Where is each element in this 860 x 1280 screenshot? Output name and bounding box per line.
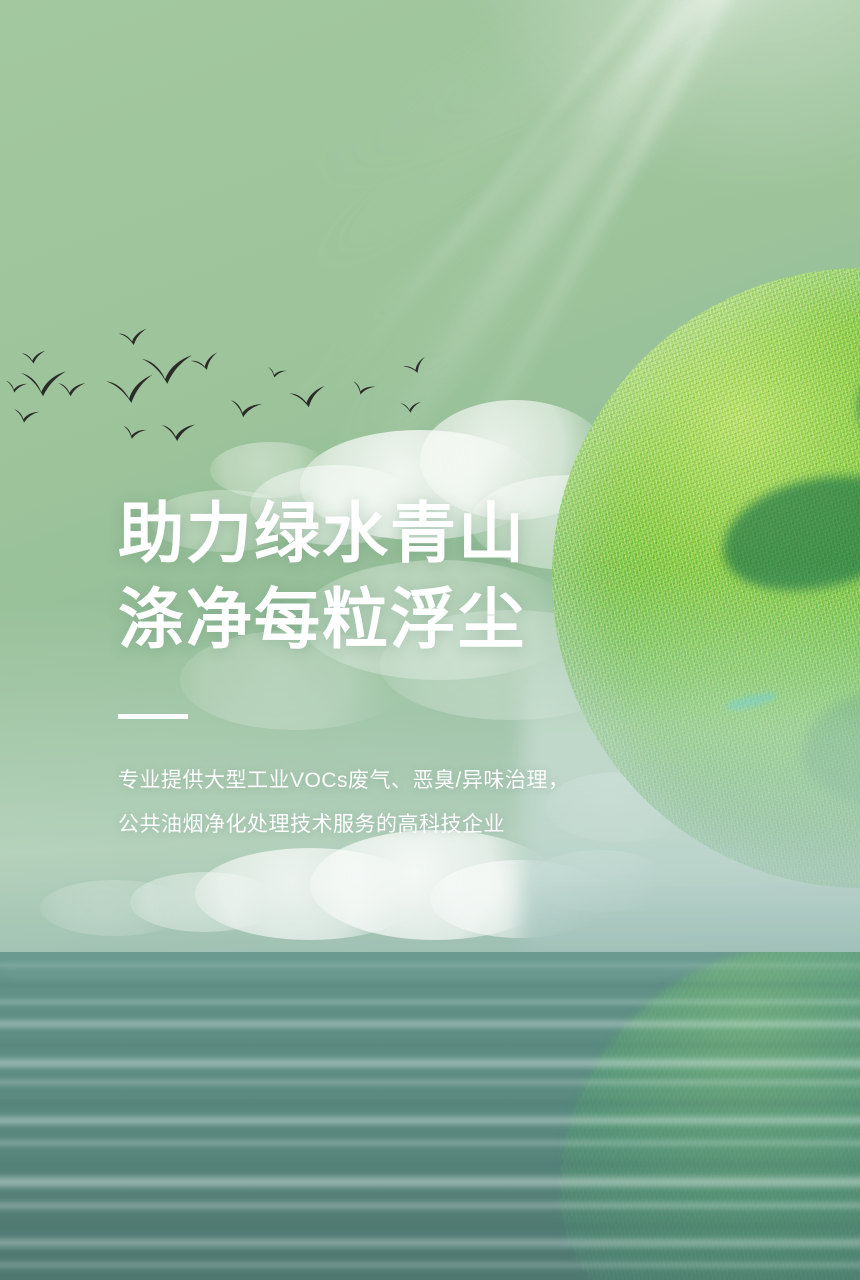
water-ripple <box>0 980 860 989</box>
bird-icon <box>350 380 378 399</box>
water-ripple <box>0 1200 860 1211</box>
bird-icon <box>121 424 149 442</box>
bird-icon <box>12 407 42 424</box>
bird-icon <box>288 382 333 413</box>
water-ripple <box>0 1260 860 1270</box>
water-ripple <box>0 1098 860 1109</box>
headline-line-2: 涤净每粒浮尘 <box>118 576 818 662</box>
water-ripple <box>0 1018 860 1030</box>
water-ripple <box>0 1220 860 1232</box>
water-ripple <box>0 998 860 1006</box>
divider-rule <box>118 714 188 719</box>
bird-icon <box>400 399 425 414</box>
headline-line-1: 助力绿水青山 <box>118 490 818 576</box>
subtitle-line-1: 专业提供大型工业VOCs废气、恶臭/异味治理， <box>118 763 818 799</box>
bird-icon <box>228 398 265 420</box>
water-ripple <box>0 1114 860 1127</box>
water-ripple <box>0 1158 860 1170</box>
water-ripple <box>0 1040 860 1050</box>
water-ripple <box>0 1138 860 1148</box>
subtitle-line-2: 公共油烟净化处理技术服务的高科技企业 <box>118 807 818 843</box>
bird-icon <box>266 366 289 381</box>
copy-block: 助力绿水青山 涤净每粒浮尘 专业提供大型工业VOCs废气、恶臭/异味治理， 公共… <box>118 490 818 843</box>
bird-icon <box>21 348 50 366</box>
bird-icon <box>402 354 433 379</box>
water-ripple <box>0 1078 860 1087</box>
water-ripple <box>0 1174 860 1190</box>
bird-flock <box>0 330 470 460</box>
bird-icon <box>140 352 198 387</box>
water-ripple <box>0 1056 860 1070</box>
poster-canvas: 助力绿水青山 涤净每粒浮尘 专业提供大型工业VOCs废气、恶臭/异味治理， 公共… <box>0 0 860 1280</box>
water-ripple <box>0 962 860 969</box>
bird-icon <box>160 421 199 443</box>
water-surface <box>0 952 860 1280</box>
water-ripple <box>0 1236 860 1250</box>
bird-icon <box>57 380 88 397</box>
